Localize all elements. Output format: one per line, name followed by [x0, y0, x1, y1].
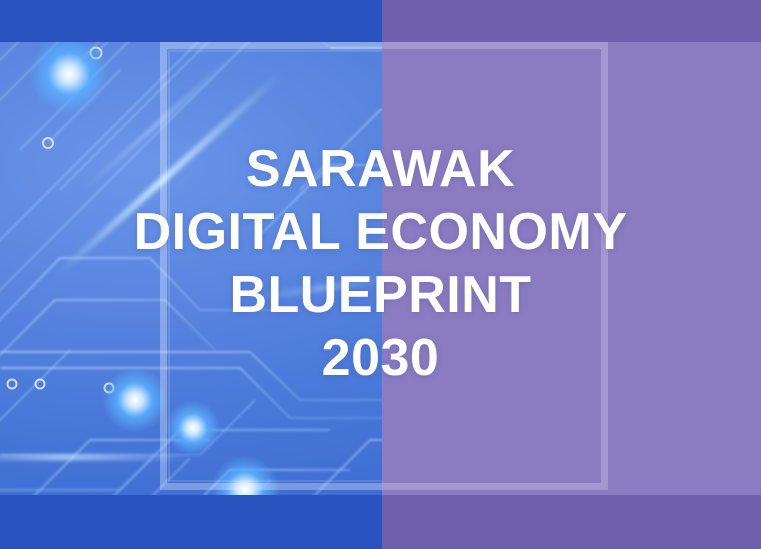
purple-band-bottom [382, 495, 761, 549]
title-line-1: SARAWAK [0, 138, 761, 201]
title-line-2: DIGITAL ECONOMY [0, 201, 761, 264]
title-line-3: BLUEPRINT [0, 264, 761, 327]
blueprint-banner: SARAWAK DIGITAL ECONOMY BLUEPRINT 2030 [0, 0, 761, 549]
page-title: SARAWAK DIGITAL ECONOMY BLUEPRINT 2030 [0, 138, 761, 390]
title-line-4: 2030 [0, 327, 761, 390]
purple-band-top [382, 0, 761, 42]
glow-node [30, 35, 108, 113]
